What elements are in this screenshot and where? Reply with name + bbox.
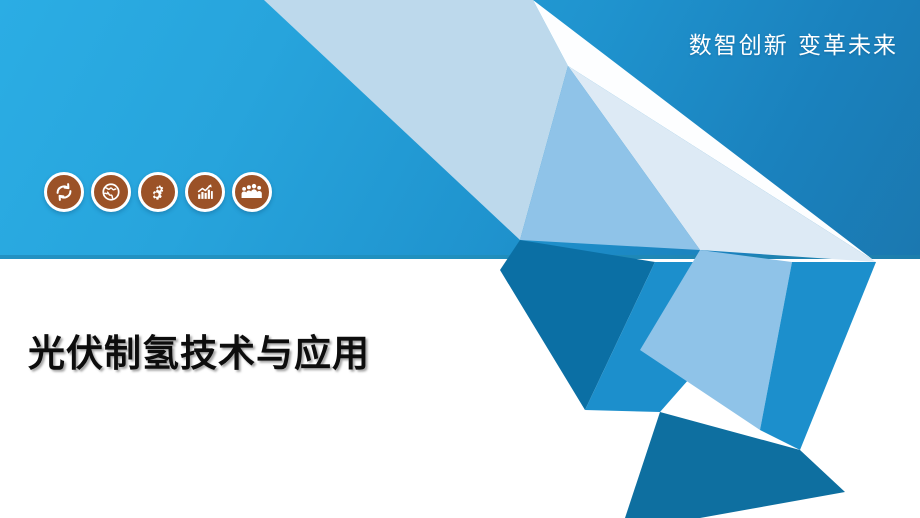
globe-icon	[100, 181, 122, 203]
slide-canvas: 数智创新 变革未来	[0, 0, 920, 518]
icon-badge-chart[interactable]	[185, 172, 225, 212]
icon-badge-recycle[interactable]	[44, 172, 84, 212]
icon-badge-people[interactable]	[232, 172, 272, 212]
icon-badge-gears[interactable]	[138, 172, 178, 212]
icon-row	[44, 172, 272, 212]
gears-icon	[147, 181, 170, 204]
recycle-arrow-icon	[53, 181, 75, 203]
people-group-icon	[240, 181, 264, 203]
icon-badge-globe[interactable]	[91, 172, 131, 212]
page-title: 光伏制氢技术与应用	[28, 323, 370, 377]
poly-pale-wing	[264, 0, 568, 240]
poly-deep-tail	[625, 412, 845, 518]
bar-chart-growth-icon	[194, 181, 216, 203]
tagline: 数智创新 变革未来	[689, 26, 898, 60]
polygon-artwork	[0, 0, 920, 518]
